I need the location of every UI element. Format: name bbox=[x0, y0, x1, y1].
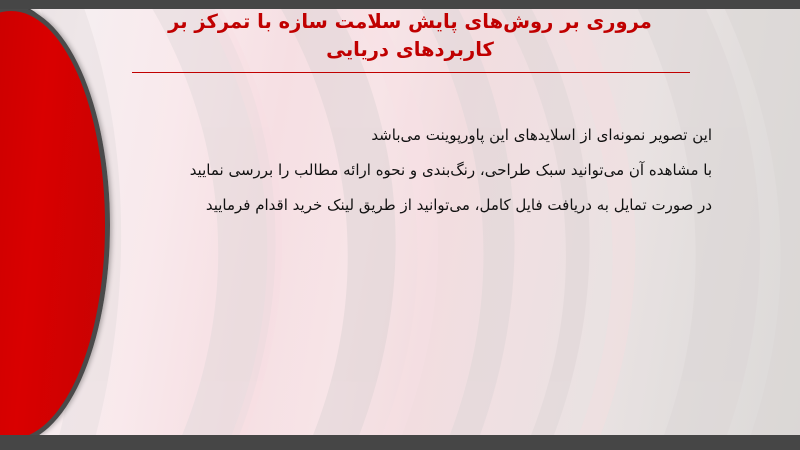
top-frame-band bbox=[0, 0, 800, 9]
slide-body-text: این تصویر نمونه‌ای از اسلایدهای این پاور… bbox=[88, 118, 712, 223]
body-line-1: این تصویر نمونه‌ای از اسلایدهای این پاور… bbox=[88, 118, 712, 153]
slide-background-panel bbox=[0, 0, 800, 450]
slide-title-line-2: کاربردهای دریایی bbox=[110, 36, 710, 64]
bottom-frame-band bbox=[0, 435, 800, 450]
body-line-3: در صورت تمایل به دریافت فایل کامل، می‌تو… bbox=[88, 188, 712, 223]
slide-title-line-1: مروری بر روش‌های پایش سلامت سازه با تمرک… bbox=[110, 8, 710, 36]
slide-title: مروری بر روش‌های پایش سلامت سازه با تمرک… bbox=[110, 8, 710, 64]
body-line-2: با مشاهده آن می‌توانید سبک طراحی، رنگ‌بن… bbox=[88, 153, 712, 188]
title-underline-rule bbox=[132, 72, 690, 73]
presentation-slide: مروری بر روش‌های پایش سلامت سازه با تمرک… bbox=[0, 0, 800, 450]
